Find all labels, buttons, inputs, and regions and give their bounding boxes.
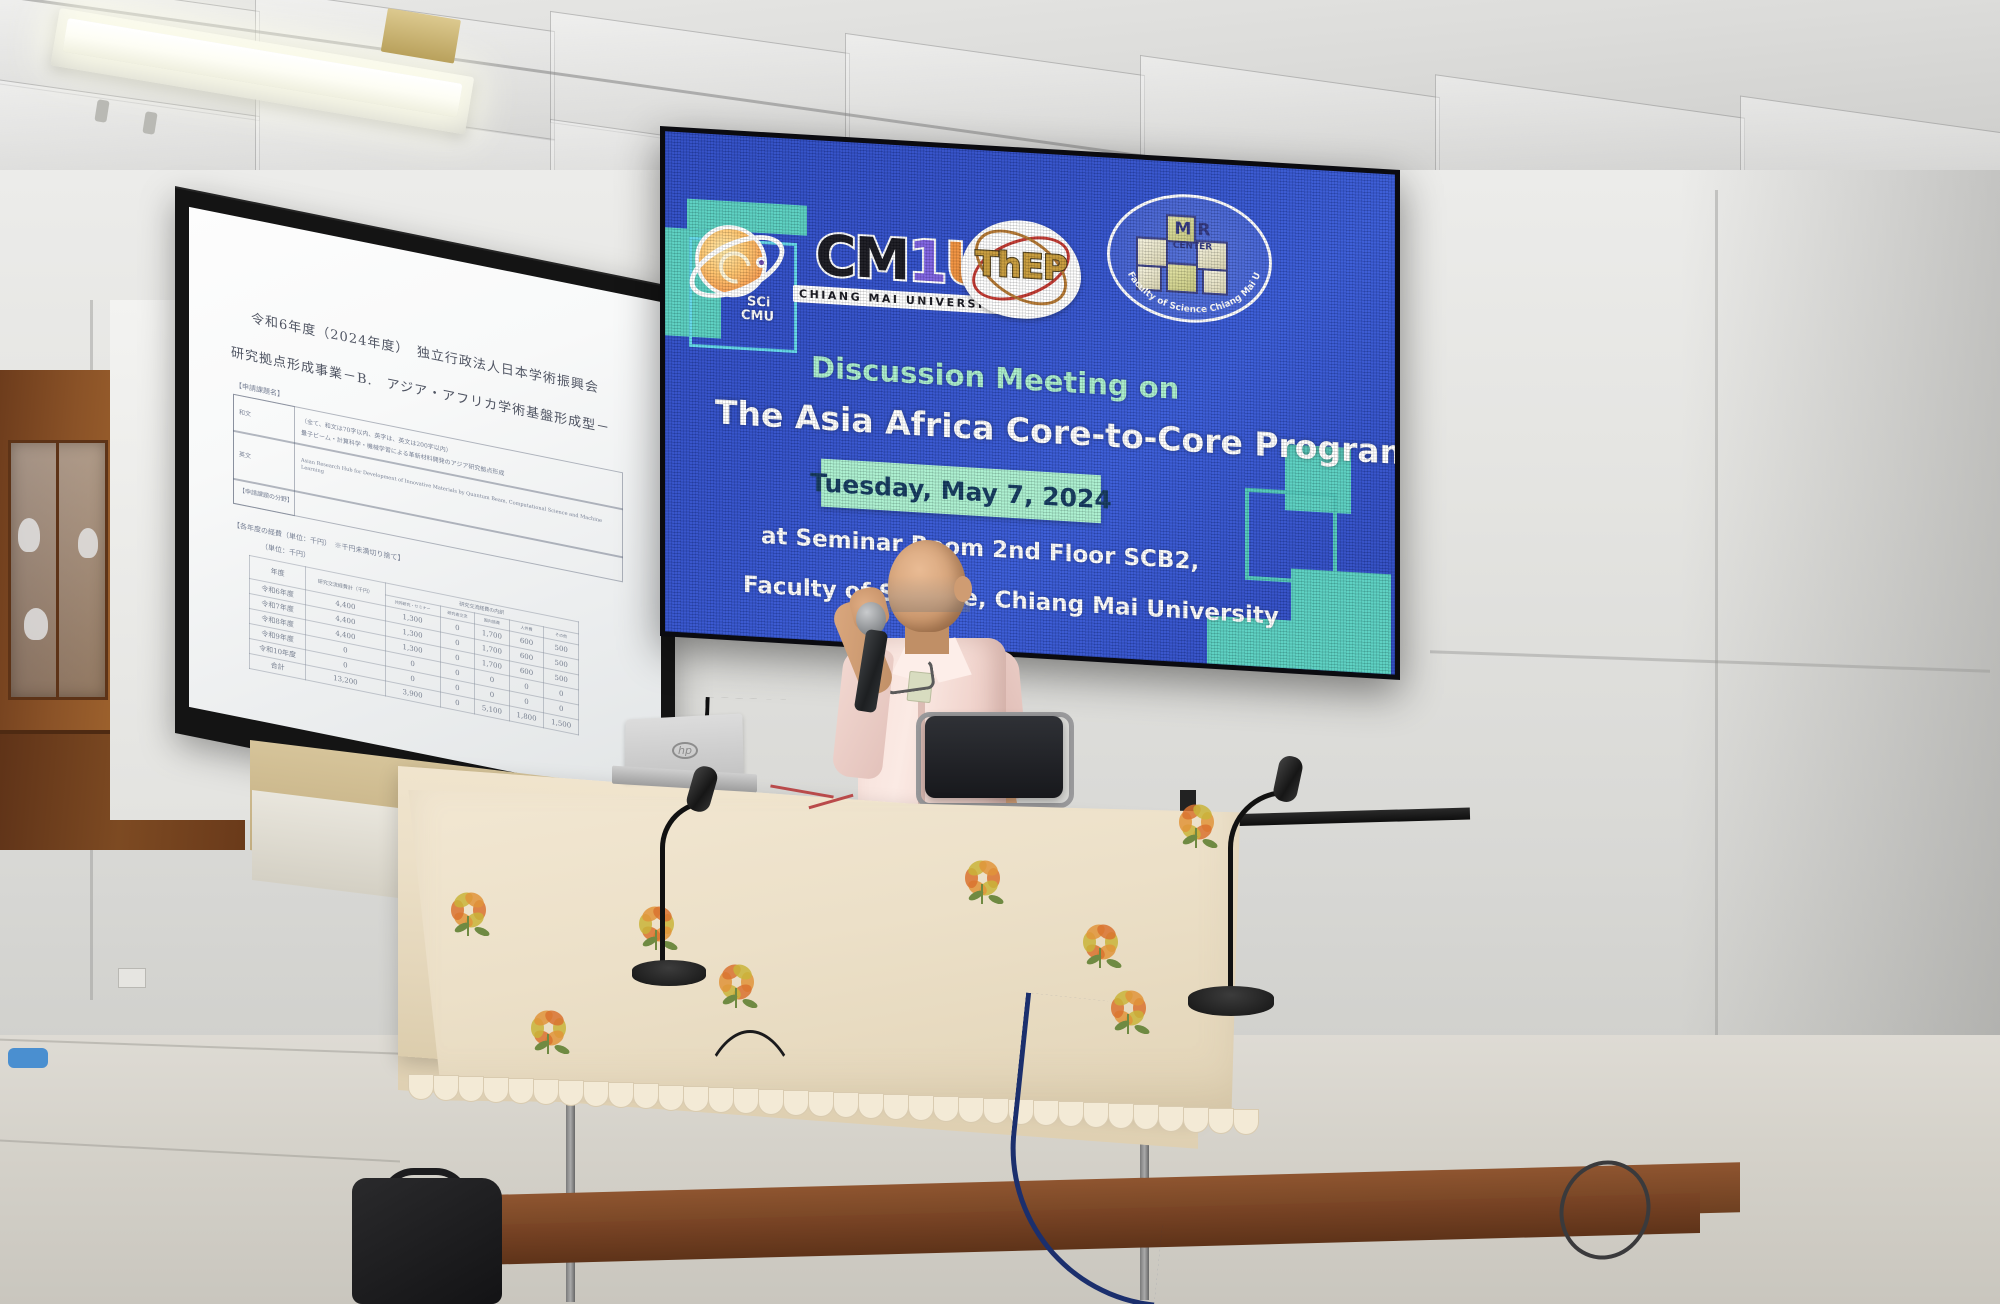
lace-scallop bbox=[433, 1075, 459, 1101]
led-display-surface: SCi CMU CM1U CHIANG MAI UNIVERSITY ThEP bbox=[665, 131, 1395, 674]
led-date-text: Tuesday, May 7, 2024 bbox=[810, 467, 1112, 514]
backpack[interactable] bbox=[352, 1178, 502, 1304]
cabinet-item bbox=[24, 608, 48, 640]
wall-seam bbox=[1715, 190, 1718, 1090]
embroidered-flower bbox=[528, 1006, 568, 1050]
mr-center-logo: M R CENTER Faculty of Science Chiang Mai… bbox=[1107, 190, 1272, 328]
cabinet-mullion bbox=[56, 440, 59, 700]
led-venue-line2: Faculty of Science, Chiang Mai Universit… bbox=[743, 572, 1279, 630]
embroidered-flower bbox=[1080, 920, 1120, 964]
deco-rect-teal bbox=[1291, 568, 1391, 674]
microphone-base-left bbox=[632, 960, 706, 986]
photo-scene: 令和6年度（2024年度） 独立行政法人日本学術振興会 研究拠点形成事業－B. … bbox=[0, 0, 2000, 1304]
sci-cmu-label-2: CMU bbox=[741, 310, 774, 324]
lace-scallop bbox=[883, 1094, 909, 1120]
lace-scallop bbox=[808, 1091, 834, 1117]
cabinet-item bbox=[18, 518, 40, 552]
lace-scallop bbox=[958, 1097, 984, 1123]
lace-scallop bbox=[908, 1095, 934, 1121]
cabinet-item bbox=[78, 528, 98, 558]
wall-outlet-plate bbox=[118, 968, 146, 988]
thep-logo: ThEP bbox=[961, 217, 1081, 322]
led-venue-line1: at Seminar Room 2nd Floor SCB2, bbox=[761, 523, 1199, 575]
led-title-line1: Discussion Meeting on bbox=[811, 350, 1179, 406]
cmu-letter-1: 1 bbox=[908, 229, 945, 296]
lace-scallop bbox=[483, 1077, 509, 1103]
orbit-moon-icon bbox=[756, 257, 767, 269]
wall-shading bbox=[1680, 170, 2000, 1090]
floor-object-blue bbox=[8, 1048, 48, 1068]
embroidered-flower bbox=[716, 960, 756, 1004]
microphone-gooseneck-left bbox=[660, 800, 708, 968]
projector-screen: 令和6年度（2024年度） 独立行政法人日本学術振興会 研究拠点形成事業－B. … bbox=[175, 188, 675, 834]
lace-scallop bbox=[983, 1098, 1009, 1124]
microphone-base-right bbox=[1188, 986, 1274, 1016]
lace-scallop bbox=[658, 1085, 684, 1111]
sci-cmu-logo: SCi CMU bbox=[695, 223, 767, 299]
embroidered-flower bbox=[962, 856, 1002, 900]
lace-scallop bbox=[1208, 1108, 1234, 1134]
embroidered-flower bbox=[1176, 800, 1216, 844]
office-chair[interactable] bbox=[925, 716, 1063, 798]
led-video-wall: SCi CMU CM1U CHIANG MAI UNIVERSITY ThEP bbox=[660, 126, 1400, 680]
embroidered-flower bbox=[448, 888, 488, 932]
cmu-letter-c: C bbox=[815, 223, 854, 290]
projection-surface: 令和6年度（2024年度） 独立行政法人日本学術振興会 研究拠点形成事業－B. … bbox=[189, 207, 661, 802]
black-floor-cable bbox=[690, 1030, 810, 1290]
lace-scallop bbox=[508, 1078, 534, 1104]
led-date-box: Tuesday, May 7, 2024 bbox=[821, 459, 1101, 524]
lace-scallop bbox=[1183, 1107, 1209, 1133]
thep-wordmark: ThEP bbox=[961, 243, 1081, 290]
slide-budget-table: 年度 研究交流経費計（千円） 研究交流経費の内訳 共同研究・セミナー 研究者交流… bbox=[249, 555, 579, 736]
lace-scallop bbox=[408, 1074, 434, 1100]
lace-scallop bbox=[833, 1092, 859, 1118]
lace-scallop bbox=[1233, 1109, 1259, 1135]
thep-badge: ThEP bbox=[961, 217, 1081, 322]
lace-scallop bbox=[933, 1096, 959, 1122]
mr-center-badge: M R CENTER Faculty of Science Chiang Mai… bbox=[1107, 190, 1272, 328]
lace-scallop bbox=[458, 1076, 484, 1102]
planet-icon bbox=[695, 223, 767, 299]
led-title-line2: The Asia Africa Core-to-Core Program bbox=[715, 392, 1395, 473]
microphone-gooseneck-right bbox=[1228, 790, 1286, 996]
lace-scallop bbox=[858, 1093, 884, 1119]
cmu-letter-m: M bbox=[854, 226, 908, 294]
hp-logo-icon: hp bbox=[672, 742, 698, 759]
presenter-ear bbox=[954, 576, 972, 602]
svg-text:Faculty of Science Chiang Mai: Faculty of Science Chiang Mai University bbox=[1110, 193, 1263, 320]
mr-ring-text-svg: Faculty of Science Chiang Mai University bbox=[1110, 193, 1275, 331]
